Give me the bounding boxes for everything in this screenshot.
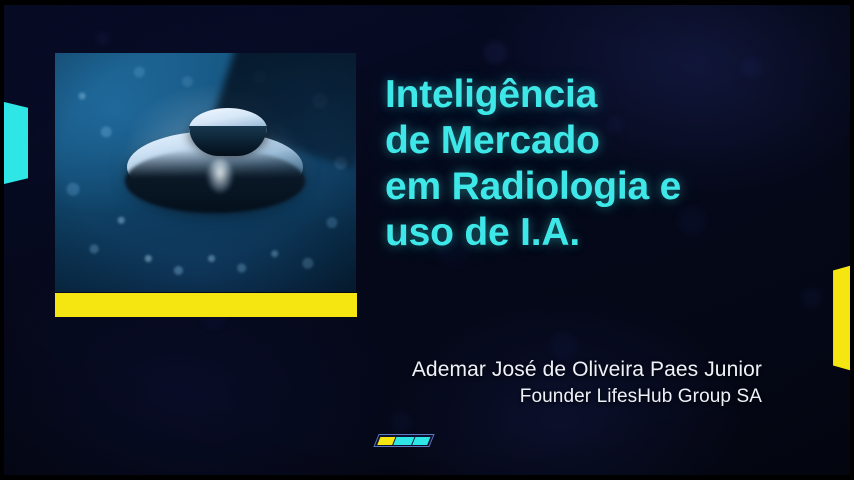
slide-title: Inteligência de Mercado em Radiologia e … [385, 72, 815, 256]
left-cyan-accent-shape [0, 100, 28, 186]
title-line-4: uso de I.A. [385, 210, 815, 256]
marker-segment-cyan-1 [394, 437, 415, 445]
presentation-title-slide: Inteligência de Mercado em Radiologia e … [0, 0, 854, 480]
title-line-1: Inteligência [385, 72, 815, 118]
letterbox-left [0, 0, 4, 480]
presenter-role: Founder LifesHub Group SA [300, 384, 762, 410]
photo-yellow-underline-bar [55, 293, 357, 317]
presenter-name: Ademar José de Oliveira Paes Junior [300, 356, 762, 384]
letterbox-right [850, 0, 854, 480]
letterbox-top [0, 0, 854, 5]
letterbox-bottom [0, 475, 854, 480]
title-line-2: de Mercado [385, 118, 815, 164]
photo-vignette [55, 53, 356, 292]
presenter-block: Ademar José de Oliveira Paes Junior Foun… [300, 356, 762, 410]
marker-segment-cyan-2 [413, 437, 432, 445]
title-line-3: em Radiologia e [385, 164, 815, 210]
bottom-decorative-marker [373, 434, 434, 447]
stethoscope-circuit-board-photo [55, 53, 356, 292]
marker-segment-yellow [377, 437, 396, 445]
